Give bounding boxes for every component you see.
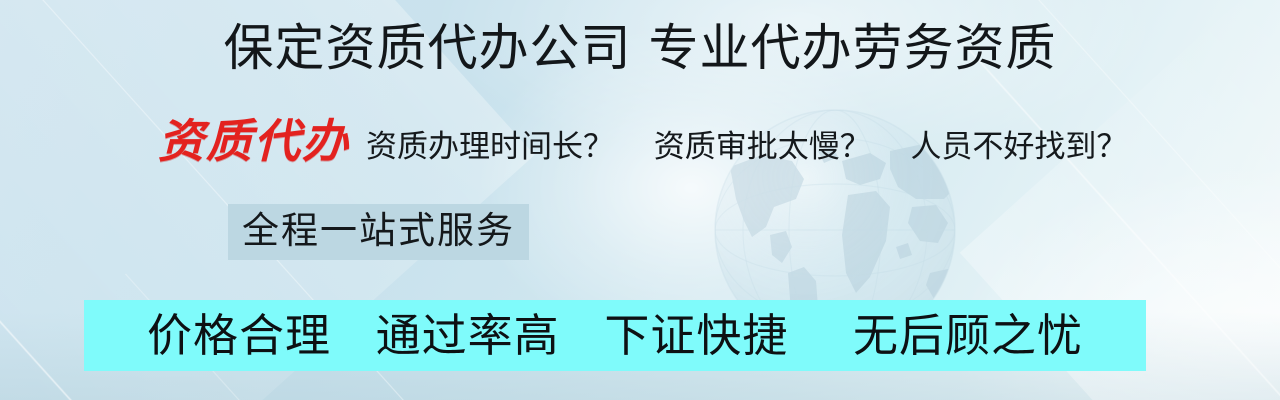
question-row: 资质代办 资质办理时间长？ 资质审批太慢？ 人员不好找到？ (158, 112, 1127, 171)
feature-item-1: 价格合理 (147, 309, 331, 362)
brand-highlight: 资质代办 (158, 112, 350, 170)
feature-item-4: 无后顾之忧 (853, 309, 1083, 362)
feature-item-2: 通过率高 (376, 309, 560, 362)
service-tag: 全程一站式服务 (228, 204, 529, 260)
feature-band: 价格合理 通过率高 下证快捷 无后顾之忧 (84, 300, 1146, 371)
feature-item-3: 下证快捷 (604, 309, 788, 362)
question-item-3: 人员不好找到？ (910, 129, 1127, 165)
page-title: 保定资质代办公司 专业代办劳务资质 (0, 16, 1280, 80)
feature-list: 价格合理 通过率高 下证快捷 无后顾之忧 (147, 310, 1083, 362)
promotional-banner: 保定资质代办公司 专业代办劳务资质 资质代办 资质办理时间长？ 资质审批太慢？ … (0, 0, 1280, 400)
question-list: 资质办理时间长？ 资质审批太慢？ 人员不好找到？ (366, 123, 1127, 171)
question-item-2: 资质审批太慢？ (654, 129, 871, 165)
question-item-1: 资质办理时间长？ (366, 129, 614, 165)
